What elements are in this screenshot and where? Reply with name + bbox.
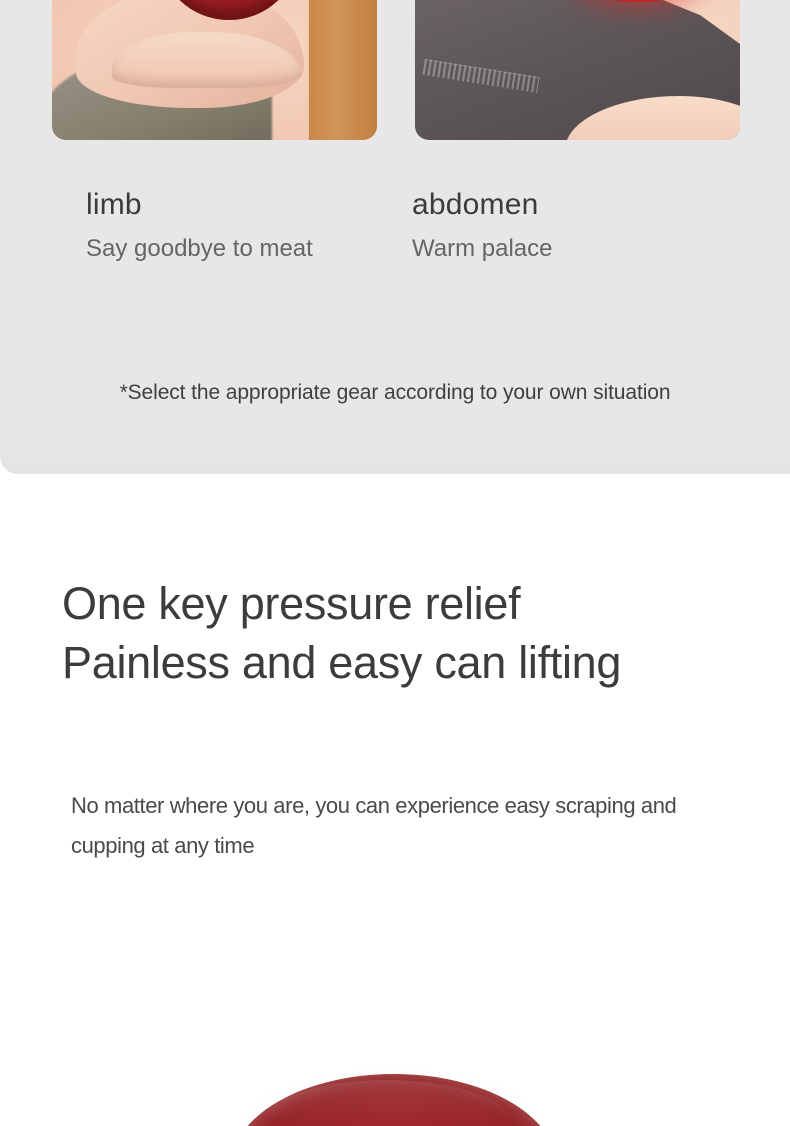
treatment-photo-row [52, 0, 740, 140]
caption-title: abdomen [412, 186, 752, 224]
caption-column-abdomen: abdomen Warm palace [412, 186, 752, 266]
gear-selection-note: *Select the appropriate gear according t… [0, 381, 790, 405]
product-hero-area [0, 1006, 790, 1126]
wood-panel-shape [309, 0, 377, 140]
headline-line-1: One key pressure relief [62, 578, 520, 629]
headline-line-2: Painless and easy can lifting [62, 633, 762, 692]
caption-title: limb [52, 186, 412, 224]
section-headline: One key pressure relief Painless and eas… [62, 574, 762, 692]
caption-row: limb Say goodbye to meat abdomen Warm pa… [52, 186, 752, 266]
limb-treatment-photo [52, 0, 377, 140]
caption-subtitle: Warm palace [412, 232, 752, 266]
caption-column-limb: limb Say goodbye to meat [52, 186, 412, 266]
section-body-copy: No matter where you are, you can experie… [71, 786, 721, 866]
product-detail-page: limb Say goodbye to meat abdomen Warm pa… [0, 0, 790, 1126]
abdomen-treatment-photo [415, 0, 740, 140]
caption-subtitle: Say goodbye to meat [52, 232, 412, 266]
